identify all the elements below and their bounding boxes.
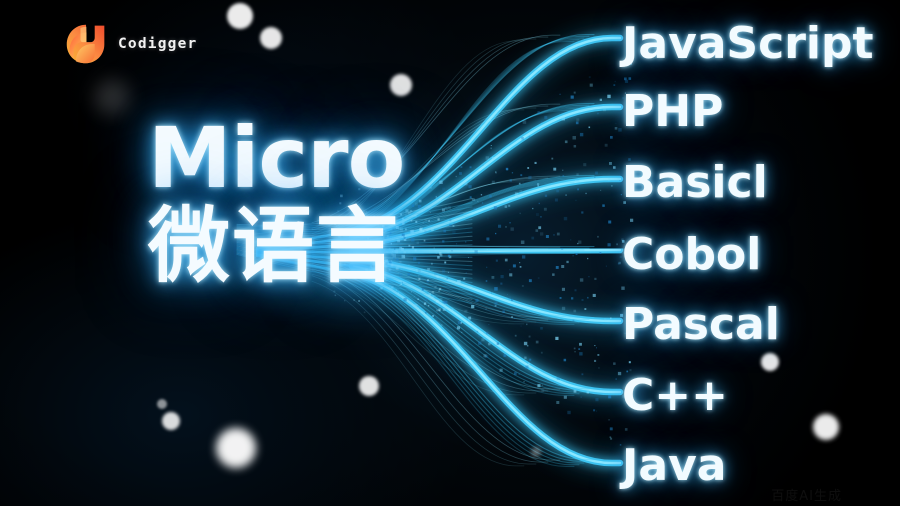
language-label-javascript[interactable]: JavaScript xyxy=(622,18,874,69)
language-label-pascal[interactable]: Pascal xyxy=(622,299,780,350)
language-label-php[interactable]: PHP xyxy=(622,86,723,137)
codigger-droplet-logo-icon xyxy=(64,22,108,66)
background-gradient xyxy=(0,0,900,506)
brand-name: Codigger xyxy=(118,36,197,52)
brand-logo[interactable]: Codigger xyxy=(64,22,197,66)
title-line-en: Micro xyxy=(148,116,404,200)
language-label-java[interactable]: Java xyxy=(622,440,726,491)
language-label-cpp[interactable]: C++ xyxy=(622,370,728,421)
title-line-cn: 微语言 xyxy=(148,206,404,288)
language-label-basicl[interactable]: Basicl xyxy=(622,157,768,208)
image-canvas: Codigger Micro 微语言 JavaScriptPHPBasiclCo… xyxy=(0,0,900,506)
language-label-cobol[interactable]: Cobol xyxy=(622,229,761,280)
page-title: Micro 微语言 xyxy=(148,116,404,288)
watermark: 百度AI生成 xyxy=(771,485,842,504)
